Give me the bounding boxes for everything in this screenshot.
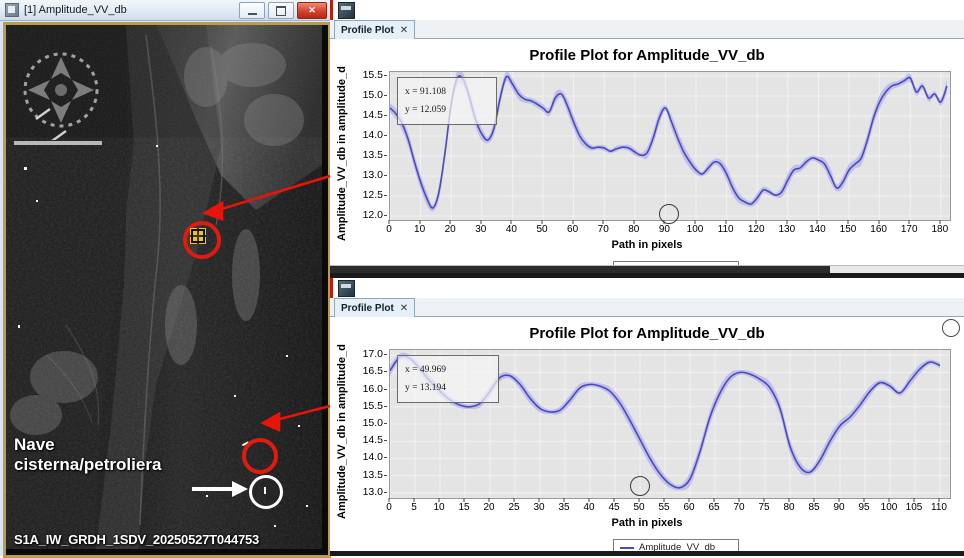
window-controls: ✕ — [239, 2, 327, 19]
plot-2-x-tick-labels: 0510152025303540455055606570758085909510… — [389, 502, 949, 516]
x-tick-label: 10 — [433, 502, 444, 513]
close-button[interactable]: ✕ — [297, 2, 327, 19]
annotation-line-2: cisterna/petroliera — [14, 455, 161, 475]
x-tick-label: 30 — [475, 224, 486, 235]
x-tick-label: 140 — [809, 224, 826, 235]
x-tick-label: 150 — [840, 224, 857, 235]
x-tick-label: 105 — [906, 502, 923, 513]
x-tick-label: 40 — [506, 224, 517, 235]
y-tick-label: 13.5 — [363, 149, 383, 161]
x-tick-label: 110 — [718, 224, 734, 235]
x-tick-label: 160 — [870, 224, 887, 235]
x-tick-label: 10 — [414, 224, 425, 235]
y-tick-label: 13.0 — [363, 169, 383, 181]
x-tick-label: 180 — [931, 224, 948, 235]
plot-1-title: Profile Plot for Amplitude_VV_db — [330, 47, 964, 64]
profile-plot-window-2: Profile Plot ✕ Profile Plot for Amplitud… — [330, 278, 964, 556]
y-tick-label: 12.5 — [363, 189, 383, 201]
x-tick-label: 0 — [386, 502, 392, 513]
y-tick-label: 17.0 — [363, 348, 383, 360]
x-tick-label: 40 — [583, 502, 594, 513]
plot-2-tabstrip: Profile Plot ✕ — [330, 298, 964, 317]
plot-1-y-tick-labels: 12.012.513.013.514.014.515.015.5 — [353, 71, 387, 219]
tooltip-y-value: y = 12.059 — [405, 101, 489, 119]
tab-label: Profile Plot — [341, 25, 394, 36]
scale-bar — [14, 141, 102, 145]
red-edge-strip-2 — [330, 278, 333, 298]
minimize-button[interactable] — [239, 2, 265, 19]
tooltip-y-value: y = 13.194 — [405, 379, 491, 397]
plot-2-selected-point-marker — [630, 476, 650, 496]
red-circle-marker-lower[interactable] — [242, 438, 278, 474]
plot-2-edge-handle[interactable] — [942, 319, 960, 337]
maximize-button[interactable] — [268, 2, 294, 19]
x-tick-label: 65 — [708, 502, 719, 513]
x-tick-label: 80 — [783, 502, 794, 513]
annotation-line-1: Nave — [14, 435, 161, 455]
tab-profile-plot-2[interactable]: Profile Plot ✕ — [334, 298, 415, 317]
profile-plot-window-1: Profile Plot ✕ Profile Plot for Amplitud… — [330, 0, 964, 278]
y-tick-label: 15.5 — [363, 69, 383, 81]
window-title-bar[interactable]: [1] Amplitude_VV_db ✕ — [0, 0, 330, 21]
y-tick-label: 16.5 — [363, 365, 383, 377]
x-tick-label: 20 — [483, 502, 494, 513]
x-tick-label: 85 — [808, 502, 819, 513]
x-tick-label: 90 — [659, 224, 670, 235]
x-tick-label: 50 — [536, 224, 547, 235]
y-tick-label: 15.0 — [363, 89, 383, 101]
plot-window-2-iconbar — [330, 278, 964, 298]
x-tick-label: 100 — [881, 502, 898, 513]
x-tick-label: 110 — [931, 502, 947, 513]
scrollbar-thumb[interactable] — [330, 266, 830, 273]
maximize-icon — [276, 6, 286, 16]
plot-2-bottom-edge — [330, 551, 964, 556]
x-tick-label: 90 — [833, 502, 844, 513]
y-tick-label: 15.5 — [363, 400, 383, 412]
x-tick-label: 80 — [628, 224, 639, 235]
y-tick-label: 14.0 — [363, 129, 383, 141]
plot-2-body: Profile Plot for Amplitude_VV_db Amplitu… — [330, 317, 964, 555]
plot-1-body: Profile Plot for Amplitude_VV_db Amplitu… — [330, 39, 964, 277]
minimize-icon — [248, 13, 257, 15]
x-tick-label: 130 — [778, 224, 795, 235]
plot-1-ylabel: Amplitude_VV_db in amplitude_d — [334, 43, 350, 265]
x-tick-label: 60 — [683, 502, 694, 513]
sar-image-window: [1] Amplitude_VV_db ✕ — [0, 0, 330, 556]
window-title: [1] Amplitude_VV_db — [24, 4, 127, 16]
y-tick-label: 14.5 — [363, 109, 383, 121]
y-tick-label: 12.0 — [363, 209, 383, 221]
x-tick-label: 70 — [598, 224, 609, 235]
x-tick-label: 55 — [658, 502, 669, 513]
y-tick-label: 14.5 — [363, 434, 383, 446]
y-tick-label: 13.0 — [363, 486, 383, 498]
pin-target-icon — [190, 228, 206, 244]
plot-2-value-tooltip: x = 49.969 y = 13.194 — [397, 355, 499, 403]
plot-1-x-tick-labels: 0102030405060708090100110120130140150160… — [389, 224, 949, 238]
plot-2-ylabel: Amplitude_VV_db in amplitude_d — [334, 321, 350, 543]
profile-plot-pane: Profile Plot ✕ Profile Plot for Amplitud… — [330, 0, 964, 556]
y-tick-label: 16.0 — [363, 383, 383, 395]
x-tick-label: 20 — [445, 224, 456, 235]
white-arrow-pointer — [192, 480, 248, 498]
snap-app-icon — [338, 2, 355, 19]
tab-label: Profile Plot — [341, 303, 394, 314]
x-tick-label: 5 — [411, 502, 417, 513]
x-tick-label: 0 — [386, 224, 392, 235]
plot-1-horizontal-scrollbar[interactable] — [330, 265, 964, 273]
compass-rose-icon — [16, 45, 106, 140]
y-tick-label: 14.0 — [363, 451, 383, 463]
x-tick-label: 15 — [458, 502, 469, 513]
red-edge-strip — [330, 0, 333, 20]
plot-2-xlabel: Path in pixels — [330, 517, 964, 529]
tab-close-icon[interactable]: ✕ — [400, 25, 408, 36]
tab-profile-plot-1[interactable]: Profile Plot ✕ — [334, 20, 415, 39]
x-tick-label: 100 — [687, 224, 704, 235]
tab-close-icon[interactable]: ✕ — [400, 303, 408, 314]
plot-2-title: Profile Plot for Amplitude_VV_db — [330, 325, 964, 342]
scene-id-label: S1A_IW_GRDH_1SDV_20250527T044753 — [14, 533, 259, 548]
plot-window-1-iconbar — [330, 0, 964, 20]
x-tick-label: 170 — [901, 224, 918, 235]
x-tick-label: 30 — [533, 502, 544, 513]
x-tick-label: 95 — [858, 502, 869, 513]
x-tick-label: 45 — [608, 502, 619, 513]
plot-1-tabstrip: Profile Plot ✕ — [330, 20, 964, 39]
tooltip-x-value: x = 49.969 — [405, 361, 491, 379]
white-circle-target — [249, 475, 283, 509]
x-tick-label: 50 — [633, 502, 644, 513]
x-tick-label: 35 — [558, 502, 569, 513]
legend-line-swatch — [620, 547, 634, 549]
image-window-icon — [5, 3, 19, 17]
y-tick-label: 13.5 — [363, 469, 383, 481]
snap-app-icon — [338, 280, 355, 297]
x-tick-label: 75 — [758, 502, 769, 513]
annotation-ship-label: Nave cisterna/petroliera — [14, 435, 161, 474]
x-tick-label: 70 — [733, 502, 744, 513]
plot-1-xlabel: Path in pixels — [330, 239, 964, 251]
x-tick-label: 60 — [567, 224, 578, 235]
plot-1-value-tooltip: x = 91.108 y = 12.059 — [397, 77, 497, 125]
sar-image-canvas[interactable]: Nave cisterna/petroliera S1A_IW_GRDH_1SD… — [3, 22, 331, 558]
x-tick-label: 25 — [508, 502, 519, 513]
y-tick-label: 15.0 — [363, 417, 383, 429]
plot-2-y-tick-labels: 13.013.514.014.515.015.516.016.517.0 — [353, 349, 387, 497]
tooltip-x-value: x = 91.108 — [405, 83, 489, 101]
x-tick-label: 120 — [748, 224, 765, 235]
plot-1-selected-point-marker — [659, 204, 679, 224]
